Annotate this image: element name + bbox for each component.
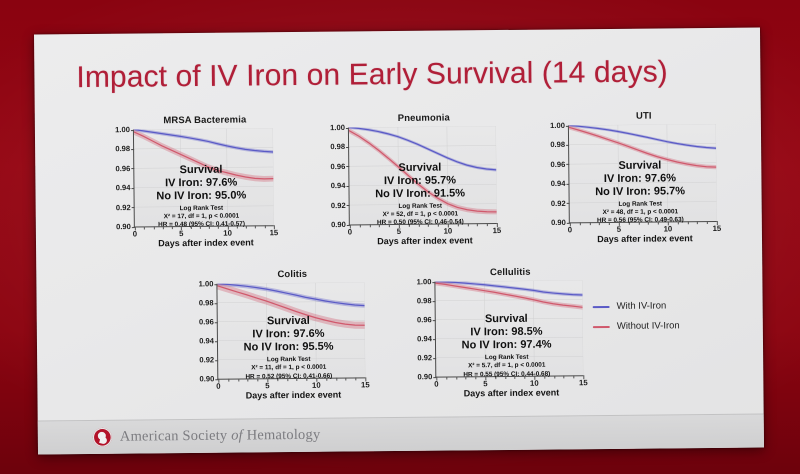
x-axis-label: Days after index event xyxy=(405,387,589,399)
plot-area: 1.000.980.960.940.920.90051015SurvivalIV… xyxy=(216,282,365,379)
legend-swatch-icon xyxy=(593,305,610,307)
y-axis-tick: 1.00 xyxy=(199,279,214,288)
y-axis-tick: 0.94 xyxy=(417,334,432,343)
survival-annotation: SurvivalIV Iron: 98.5%No IV Iron: 97.4%L… xyxy=(442,313,572,380)
y-axis-tick: 1.00 xyxy=(330,123,345,132)
legend-label: With IV-Iron xyxy=(617,300,667,311)
annotation-no-iv-iron: No IV Iron: 95.0% xyxy=(140,189,262,203)
x-axis-tick: 5 xyxy=(617,225,621,234)
y-axis-tick: 0.92 xyxy=(417,353,432,362)
x-axis-tick: 5 xyxy=(483,379,487,388)
y-axis-tick: 0.92 xyxy=(551,198,566,207)
chart-title-cellulitis: Cellulitis xyxy=(404,266,588,279)
x-axis-tick: 15 xyxy=(493,226,502,235)
y-axis-tick: 0.90 xyxy=(417,372,432,381)
annotation-iv-iron: IV Iron: 95.7% xyxy=(355,174,484,188)
plot-area: 1.000.980.960.940.920.90051015SurvivalIV… xyxy=(133,128,274,227)
y-axis-tick: 0.90 xyxy=(331,220,346,229)
annotation-survival-heading: Survival xyxy=(140,163,262,177)
annotation-log-rank: Log Rank TestX² = 52, df = 1, p < 0.0001… xyxy=(356,202,486,228)
charts-container: MRSA BacteremiaSurvival Probability1.000… xyxy=(34,28,760,35)
x-axis-tick: 5 xyxy=(265,381,269,390)
annotation-log-rank: Log Rank TestX² = 11, df = 1, p < 0.0001… xyxy=(224,356,354,382)
x-axis-minor-tick xyxy=(583,375,584,379)
chart-panel-mrsa-bacteremia: MRSA BacteremiaSurvival Probability1.000… xyxy=(103,114,280,248)
annotation-survival-heading: Survival xyxy=(575,159,704,173)
chart-panel-pneumonia: PneumoniaSurvival Probability1.000.980.9… xyxy=(318,112,503,246)
x-axis-tick: 0 xyxy=(348,227,352,236)
annotation-no-iv-iron: No IV Iron: 95.7% xyxy=(575,185,704,199)
x-axis-tick: 5 xyxy=(397,227,401,236)
x-axis-label: Days after index event xyxy=(104,237,280,249)
y-axis-tick: 0.94 xyxy=(551,179,566,188)
y-axis-tick: 0.98 xyxy=(330,142,345,151)
chart-panel-uti: UTISurvival Probability1.000.980.960.940… xyxy=(538,110,723,244)
y-axis-tick: 0.94 xyxy=(199,336,214,345)
survival-annotation: SurvivalIV Iron: 97.6%No IV Iron: 95.0%L… xyxy=(140,163,263,230)
page-title: Impact of IV Iron on Early Survival (14 … xyxy=(76,55,668,95)
chart-title-uti: UTI xyxy=(538,110,722,123)
slide-footer: American Society of Hematology xyxy=(38,414,764,455)
survival-annotation: SurvivalIV Iron: 97.6%No IV Iron: 95.7%L… xyxy=(575,159,705,226)
x-axis-minor-tick xyxy=(355,377,356,380)
x-axis-tick: 15 xyxy=(270,228,279,237)
x-axis-minor-tick xyxy=(365,377,366,381)
x-axis-tick: 10 xyxy=(444,226,453,235)
y-axis-tick: 0.96 xyxy=(115,164,130,173)
y-axis-tick: 0.90 xyxy=(551,218,566,227)
x-axis-tick: 0 xyxy=(133,230,137,239)
annotation-survival-heading: Survival xyxy=(224,315,353,329)
presentation-slide: Impact of IV Iron on Early Survival (14 … xyxy=(34,28,764,455)
hazard-ratio-line: HR = 0.56 (95% CI: 0.49-0.63) xyxy=(576,216,705,225)
x-axis-label: Days after index event xyxy=(319,235,503,247)
annotation-no-iv-iron: No IV Iron: 97.4% xyxy=(442,339,571,353)
x-axis-minor-tick xyxy=(265,225,266,228)
chart-title-colitis: Colitis xyxy=(186,268,370,281)
x-axis-label: Days after index event xyxy=(539,233,723,245)
org-name-part-2: Hematology xyxy=(243,427,321,444)
chart-title-pneumonia: Pneumonia xyxy=(318,112,502,125)
chart-legend: With IV-IronWithout IV-Iron xyxy=(593,300,680,341)
plot-area: 1.000.980.960.940.920.90051015SurvivalIV… xyxy=(568,124,717,223)
y-axis-tick: 0.94 xyxy=(331,181,346,190)
x-axis-tick: 10 xyxy=(530,379,539,388)
legend-item-with-iv-iron: With IV-Iron xyxy=(593,300,680,312)
x-axis-minor-tick xyxy=(436,377,437,381)
y-axis-tick: 0.98 xyxy=(199,298,214,307)
x-axis-tick: 0 xyxy=(434,380,438,389)
x-axis-tick: 10 xyxy=(664,224,673,233)
y-axis-tick: 0.96 xyxy=(417,315,432,324)
y-axis-tick: 0.90 xyxy=(116,222,131,231)
annotation-no-iv-iron: No IV Iron: 95.5% xyxy=(224,341,353,355)
x-axis-minor-tick xyxy=(274,225,275,229)
y-axis-tick: 0.92 xyxy=(331,201,346,210)
y-axis-tick: 1.00 xyxy=(417,277,432,286)
legend-label: Without IV-Iron xyxy=(617,320,680,332)
y-axis-tick: 0.96 xyxy=(550,160,565,169)
y-axis-tick: 1.00 xyxy=(550,121,565,130)
x-axis-minor-tick xyxy=(487,223,488,226)
x-axis-minor-tick xyxy=(135,227,136,231)
x-axis-tick: 15 xyxy=(713,224,722,233)
x-axis-minor-tick xyxy=(570,222,571,226)
x-axis-tick: 0 xyxy=(568,225,572,234)
ash-logo-icon xyxy=(93,428,112,447)
hazard-ratio-line: HR = 0.55 (95% CI: 0.44-0.68) xyxy=(442,370,571,379)
annotation-survival-heading: Survival xyxy=(355,161,484,175)
hazard-ratio-line: HR = 0.48 (95% CI: 0.41-0.57) xyxy=(140,220,262,229)
y-axis-tick: 0.96 xyxy=(330,162,345,171)
x-axis-tick: 15 xyxy=(361,380,370,389)
y-axis-tick: 0.98 xyxy=(417,296,432,305)
x-axis-label: Days after index event xyxy=(187,389,371,401)
annotation-iv-iron: IV Iron: 97.6% xyxy=(224,328,353,342)
annotation-iv-iron: IV Iron: 97.6% xyxy=(140,176,262,190)
chart-panel-cellulitis: CellulitisSurvival Probability1.000.980.… xyxy=(404,266,589,398)
x-axis-tick: 10 xyxy=(223,229,232,238)
hazard-ratio-line: HR = 0.50 (95% CI: 0.46-0.54) xyxy=(356,218,485,227)
legend-item-without-iv-iron: Without IV-Iron xyxy=(593,320,680,332)
y-axis-tick: 0.98 xyxy=(550,140,565,149)
annotation-no-iv-iron: No IV Iron: 91.5% xyxy=(355,187,484,201)
x-axis-tick: 10 xyxy=(312,381,321,390)
annotation-log-rank: Log Rank TestX² = 5.7, df = 1, p < 0.000… xyxy=(442,354,572,380)
y-axis-tick: 0.92 xyxy=(199,355,214,364)
y-axis-tick: 0.98 xyxy=(115,144,130,153)
annotation-survival-heading: Survival xyxy=(442,313,571,327)
survival-curve xyxy=(569,124,716,150)
hazard-ratio-line: HR = 0.52 (95% CI: 0.41-0.66) xyxy=(224,372,353,381)
org-name-part-1: American Society xyxy=(120,428,231,445)
x-axis-minor-tick xyxy=(573,375,574,378)
y-axis-tick: 0.96 xyxy=(199,317,214,326)
x-axis-minor-tick xyxy=(218,379,219,383)
x-axis-minor-tick xyxy=(350,224,351,228)
legend-swatch-icon xyxy=(593,325,610,327)
x-axis-tick: 15 xyxy=(579,378,588,387)
x-axis-tick: 0 xyxy=(216,382,220,391)
y-axis-tick: 1.00 xyxy=(115,125,130,134)
x-axis-minor-tick xyxy=(707,221,708,224)
annotation-iv-iron: IV Iron: 98.5% xyxy=(442,326,571,340)
x-axis-minor-tick xyxy=(717,221,718,225)
survival-annotation: SurvivalIV Iron: 95.7%No IV Iron: 91.5%L… xyxy=(355,161,485,228)
survival-annotation: SurvivalIV Iron: 97.6%No IV Iron: 95.5%L… xyxy=(224,315,354,382)
x-axis-tick: 5 xyxy=(179,229,183,238)
annotation-log-rank: Log Rank TestX² = 17, df = 1, p < 0.0001… xyxy=(140,204,263,230)
y-axis-tick: 0.92 xyxy=(116,203,131,212)
annotation-iv-iron: IV Iron: 97.6% xyxy=(575,172,704,186)
y-axis-tick: 0.90 xyxy=(199,374,214,383)
y-axis-tick: 0.94 xyxy=(116,183,131,192)
chart-panel-colitis: ColitisSurvival Probability1.000.980.960… xyxy=(186,268,371,400)
annotation-log-rank: Log Rank TestX² = 48, df = 1, p < 0.0001… xyxy=(576,200,706,226)
plot-area: 1.000.980.960.940.920.90051015SurvivalIV… xyxy=(434,280,583,377)
x-axis-minor-tick xyxy=(497,223,498,227)
organization-name: American Society of Hematology xyxy=(120,427,321,446)
org-name-of: of xyxy=(231,428,243,444)
plot-area: 1.000.980.960.940.920.90051015SurvivalIV… xyxy=(348,126,497,225)
